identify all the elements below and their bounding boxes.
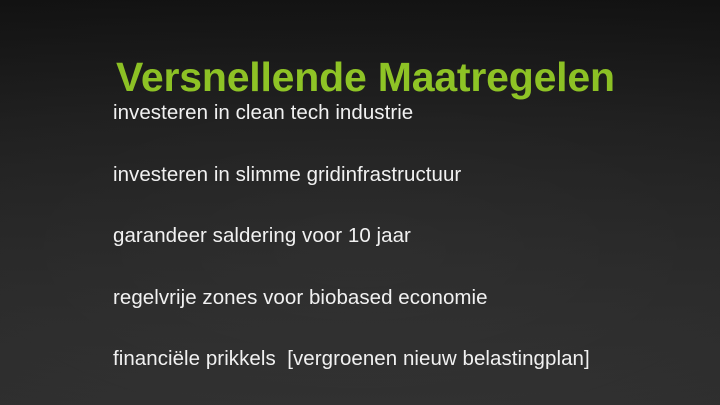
bullet-item-5: financiële prikkels [vergroenen nieuw be…: [113, 346, 693, 405]
presentation-slide: Versnellende Maatregelen investeren in c…: [0, 0, 720, 405]
slide-title: Versnellende Maatregelen: [116, 55, 615, 99]
slide-bullet-list: investeren in clean tech industrie inves…: [113, 100, 693, 405]
bullet-item-2: investeren in slimme gridinfrastructuur: [113, 162, 693, 224]
bullet-item-4: regelvrije zones voor biobased economie: [113, 285, 693, 347]
bullet-item-3: garandeer saldering voor 10 jaar: [113, 223, 693, 285]
bullet-item-1: investeren in clean tech industrie: [113, 100, 693, 162]
